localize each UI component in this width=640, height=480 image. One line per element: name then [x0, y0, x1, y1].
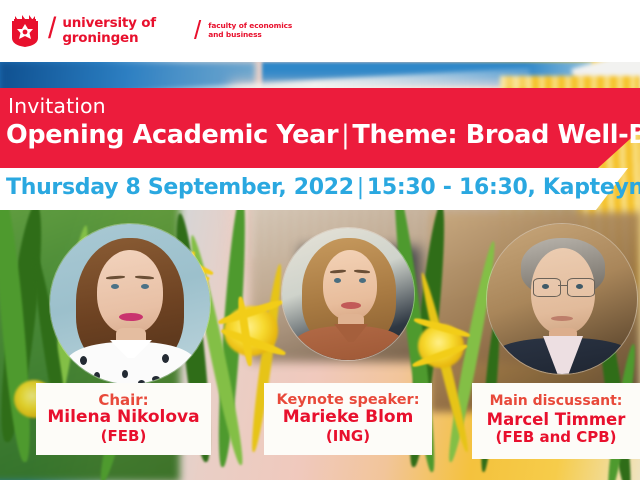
blouse-dot	[162, 354, 169, 363]
speaker-affiliation: (FEB)	[101, 428, 147, 445]
portrait-marieke-blom	[282, 228, 414, 360]
speaker-card-chair: Chair: Milena Nikolova (FEB)	[36, 383, 211, 455]
faculty-line-2: and business	[208, 30, 261, 39]
eye	[542, 284, 549, 289]
headline-title: Opening Academic Year	[6, 120, 338, 150]
eye	[359, 278, 366, 283]
event-datetime: Thursday 8 September, 2022|15:30 - 16:30…	[6, 175, 640, 200]
speaker-name: Milena Nikolova	[47, 408, 199, 428]
logo-band: / university of groningen / faculty of e…	[0, 0, 640, 62]
blouse-dot	[80, 356, 87, 365]
university-line-2: groningen	[62, 30, 138, 46]
headline-theme: Theme: Broad Well-Being	[352, 120, 640, 150]
university-wordmark: university of groningen	[62, 16, 156, 45]
faculty-slash-icon: /	[194, 17, 201, 43]
event-time-location: 15:30 - 16:30, Kapteynborg	[367, 175, 640, 200]
blouse-dot	[174, 370, 180, 378]
speaker-card-keynote: Keynote speaker: Marieke Blom (ING)	[264, 383, 432, 455]
eye	[576, 284, 583, 289]
speaker-card-discussant: Main discussant: Marcel Timmer (FEB and …	[472, 383, 640, 459]
speaker-affiliation: (ING)	[326, 428, 370, 445]
portrait-milena-nikolova	[50, 224, 210, 384]
invitation-poster: Invitation Opening Academic Year|Theme: …	[0, 0, 640, 480]
portrait-marcel-timmer	[487, 224, 637, 374]
speaker-role: Chair:	[98, 392, 148, 409]
datetime-separator: |	[354, 175, 367, 200]
blouse-dot	[122, 370, 128, 378]
eyeglasses-bridge	[558, 285, 568, 286]
eye	[141, 284, 149, 289]
blouse-dot	[152, 376, 160, 382]
headline-separator: |	[338, 120, 352, 150]
speaker-affiliation: (FEB and CPB)	[495, 429, 616, 446]
speaker-name: Marieke Blom	[283, 408, 414, 428]
speaker-role: Main discussant:	[490, 394, 623, 410]
lips	[551, 316, 573, 321]
lips	[119, 313, 143, 321]
speaker-role: Keynote speaker:	[276, 392, 419, 408]
lips	[341, 302, 361, 309]
face	[323, 250, 377, 320]
event-headline: Opening Academic Year|Theme: Broad Well-…	[6, 120, 640, 150]
speaker-name: Marcel Timmer	[487, 410, 626, 429]
eye	[111, 284, 119, 289]
faculty-wordmark: faculty of economics and business	[208, 22, 292, 40]
blouse-dot	[74, 374, 82, 380]
university-of-groningen-crest-icon	[10, 14, 40, 48]
eye	[334, 278, 341, 283]
blouse-dot	[94, 372, 100, 380]
event-date: Thursday 8 September, 2022	[6, 175, 354, 200]
logo-slash-icon: /	[48, 14, 56, 44]
faculty-line-1: faculty of economics	[208, 21, 292, 30]
face	[97, 250, 163, 334]
invitation-kicker: Invitation	[8, 94, 106, 118]
